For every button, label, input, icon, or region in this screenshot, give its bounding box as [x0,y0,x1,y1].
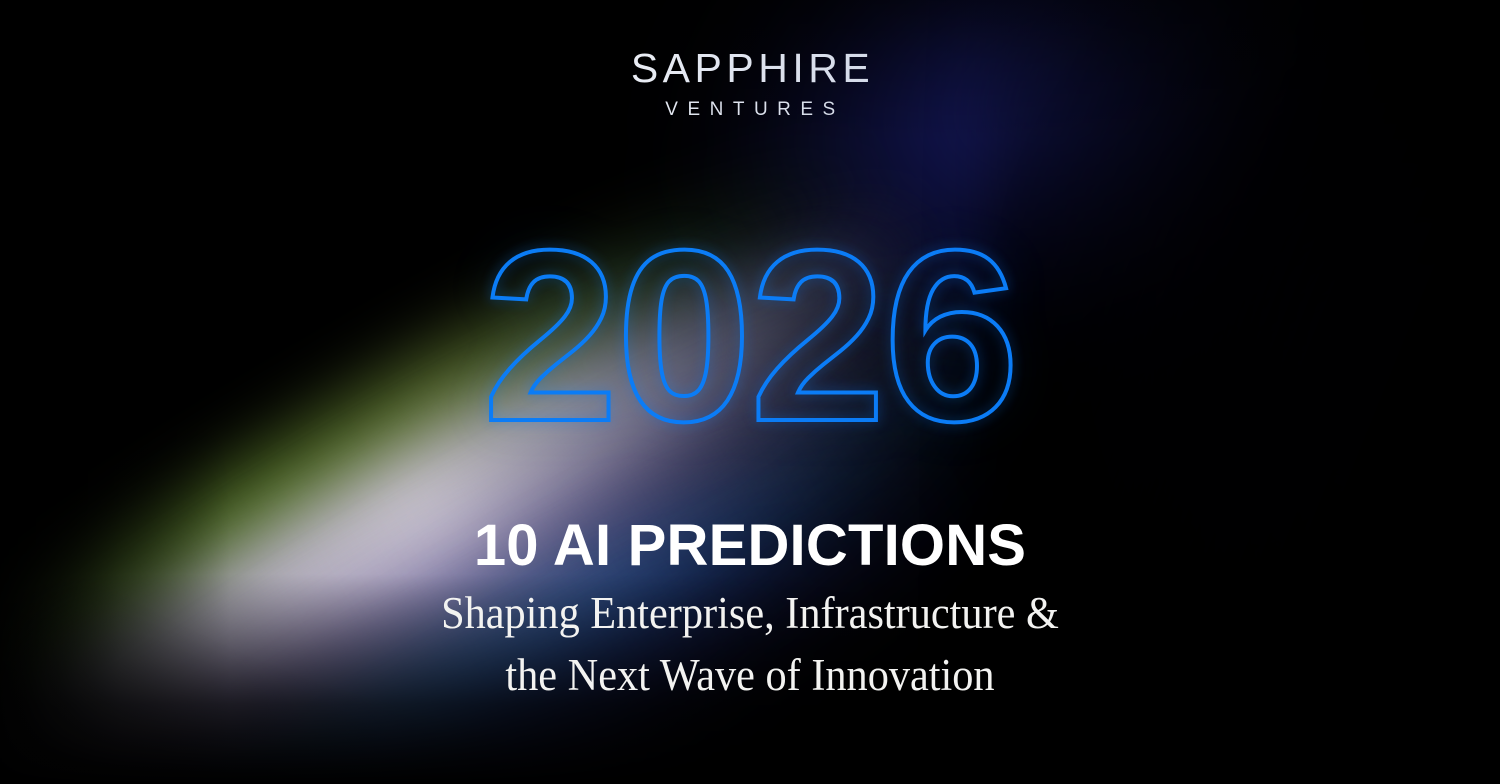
page-subtitle: Shaping Enterprise, Infrastructure & the… [0,582,1500,706]
subtitle-line-1: Shaping Enterprise, Infrastructure & [45,582,1455,644]
brand-tagline: VENTURES [0,100,1500,119]
subtitle-line-2: the Next Wave of Innovation [45,644,1455,706]
year-display: 2026 [0,214,1500,458]
page-title: 10 AI PREDICTIONS [0,517,1500,575]
brand-name: SAPPHIRE [0,48,1500,89]
poster-canvas: SAPPHIRE VENTURES 2026 10 AI PREDICTIONS… [0,0,1500,784]
poster-content: SAPPHIRE VENTURES 2026 10 AI PREDICTIONS… [0,0,1500,784]
brand-logo: SAPPHIRE VENTURES [0,48,1500,119]
